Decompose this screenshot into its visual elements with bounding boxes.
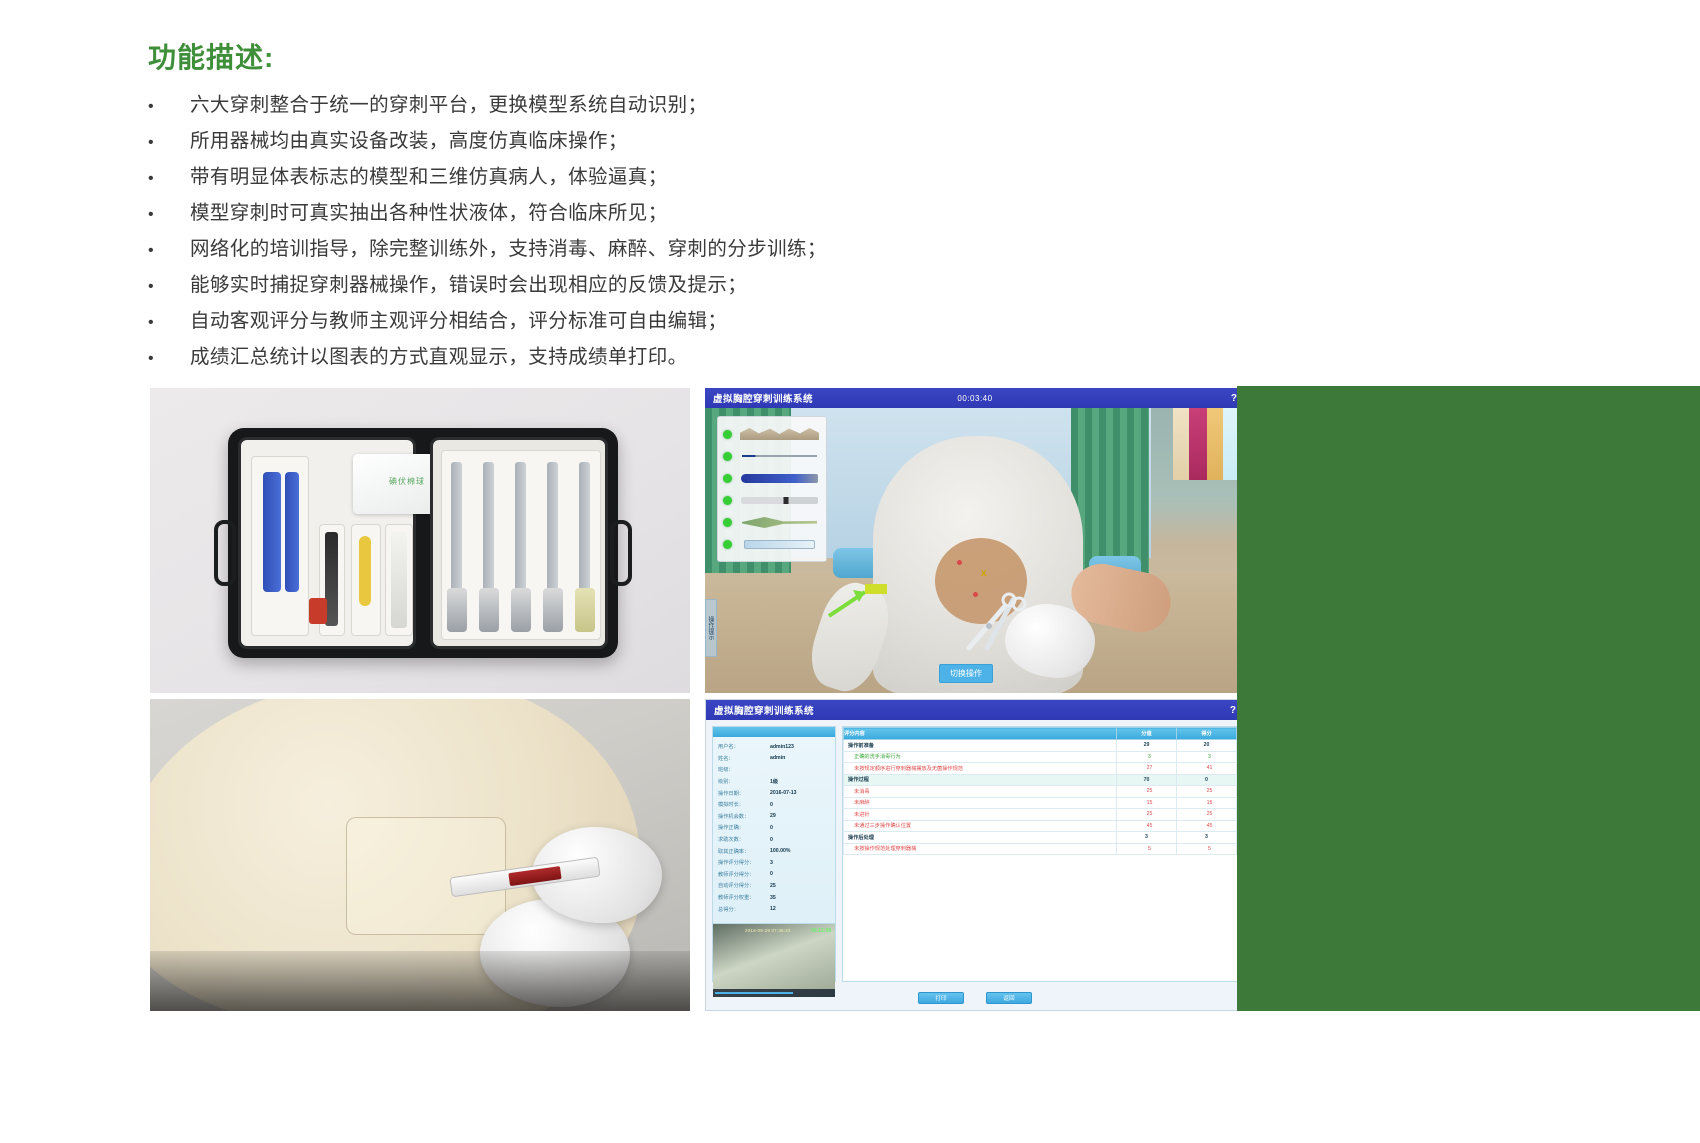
bullet-marker-icon: • xyxy=(148,234,190,268)
anatomy-cross-section-inset[interactable] xyxy=(1173,408,1245,480)
instrument-palette[interactable] xyxy=(717,416,827,562)
table-edge xyxy=(150,951,690,1011)
report-screenshot: 虚拟胸腔穿刺训练系统 ? 用户名：admin123姓名：admin班级：级别：1… xyxy=(705,699,1245,1011)
score-item-label: 未通过三步操作确认位置 xyxy=(844,820,1117,832)
needle-3 xyxy=(515,462,526,590)
anatomy-layer-skin xyxy=(1173,408,1189,480)
score-column-header: 得分 xyxy=(1177,728,1237,740)
info-key: 总得分： xyxy=(718,906,770,913)
info-value: 0 xyxy=(770,825,773,831)
score-item-label: 未按规定顺序进行穿刺器械摆放及无菌操作规范 xyxy=(844,763,1117,775)
score-table-row: 未通过三步操作确认位置4545 xyxy=(844,820,1237,832)
video-clock: 00:12:08 xyxy=(811,928,831,934)
feature-bullet-text: 网络化的培训指导，除完整训练外，支持消毒、麻醉、穿刺的分步训练； xyxy=(190,232,1148,266)
info-card-header xyxy=(713,727,835,737)
status-dot-ready xyxy=(723,430,732,439)
handle-3 xyxy=(511,588,531,632)
report-app-titlebar: 虚拟胸腔穿刺训练系统 ? xyxy=(706,700,1244,720)
info-value: 35 xyxy=(770,895,776,901)
score-item-value: 41 xyxy=(1177,763,1237,775)
info-row: 操作评分得分：3 xyxy=(718,857,830,869)
score-item-value: 45 xyxy=(1117,820,1177,832)
score-item-value: 25 xyxy=(1177,809,1237,821)
score-item-value: 5 xyxy=(1117,843,1177,855)
score-column-header: 评分内容 xyxy=(844,728,1117,740)
feature-bullet-item: •所用器械均由真实设备改装，高度仿真临床操作； xyxy=(148,124,1148,160)
bullet-marker-icon: • xyxy=(148,342,190,376)
status-dot-ready xyxy=(723,452,732,461)
info-key: 操作评分得分： xyxy=(718,859,770,866)
score-item-value: 25 xyxy=(1117,786,1177,798)
feature-bullet-item: •六大穿刺整合于统一的穿刺平台，更换模型系统自动识别； xyxy=(148,88,1148,124)
tool-forceps-blue-2 xyxy=(285,472,299,592)
info-key: 教师评分得分： xyxy=(718,871,770,878)
info-row: 教师评分得分：0 xyxy=(718,869,830,881)
feature-bullet-text: 带有明显体表标志的模型和三维仿真病人，体验逼真； xyxy=(190,160,1148,194)
info-row: 操作正确：0 xyxy=(718,822,830,834)
info-value: 100.00% xyxy=(770,848,790,854)
case-body: 碘伏棉球 xyxy=(228,428,618,658)
info-row: 取其正确率：100.00% xyxy=(718,845,830,857)
info-value: 25 xyxy=(770,883,776,889)
feature-bullet-item: •网络化的培训指导，除完整训练外，支持消毒、麻醉、穿刺的分步训练； xyxy=(148,232,1148,268)
anatomy-layer-muscle xyxy=(1189,408,1207,480)
case-lid-right xyxy=(430,437,608,649)
info-row: 求助次数：0 xyxy=(718,834,830,846)
info-value: 0 xyxy=(770,871,773,877)
yellow-cap-tool xyxy=(359,536,371,606)
bullet-marker-icon: • xyxy=(148,270,190,304)
info-key: 自动评分得分： xyxy=(718,882,770,889)
instrument-item-clamp[interactable] xyxy=(723,511,821,533)
status-dot-ready xyxy=(723,474,732,483)
score-item-value: 25 xyxy=(1177,786,1237,798)
score-item-label: 未消毒 xyxy=(844,786,1117,798)
info-value: 1级 xyxy=(770,778,778,785)
score-table-row: 未消毒2525 xyxy=(844,786,1237,798)
instrument-item-vial[interactable] xyxy=(723,533,821,555)
feature-bullet-item: •带有明显体表标志的模型和三维仿真病人，体验逼真； xyxy=(148,160,1148,196)
info-rows: 用户名：admin123姓名：admin班级：级别：1级操作日期：2016-07… xyxy=(713,737,835,919)
bullet-marker-icon: • xyxy=(148,90,190,124)
feature-bullet-item: •模型穿刺时可真实抽出各种性状液体，符合临床所见； xyxy=(148,196,1148,232)
score-item-value: 0 xyxy=(1177,774,1237,786)
bullet-marker-icon: • xyxy=(148,126,190,160)
score-item-value: 15 xyxy=(1117,797,1177,809)
score-item-value: 45 xyxy=(1177,820,1237,832)
score-item-label: 操作后处理 xyxy=(844,832,1117,844)
status-dot-ready xyxy=(723,540,732,549)
info-row: 操作日期：2016-07-13 xyxy=(718,787,830,799)
vr-scene[interactable]: x 操作提示 切换操作 xyxy=(705,408,1245,693)
info-key: 操作正确： xyxy=(718,824,770,831)
score-item-value: 3 xyxy=(1177,832,1237,844)
landmark-dot-1 xyxy=(957,560,962,565)
score-column-header: 分值 xyxy=(1117,728,1177,740)
info-key: 求助次数： xyxy=(718,836,770,843)
switch-operation-button[interactable]: 切换操作 xyxy=(939,664,993,683)
back-button[interactable]: 返回 xyxy=(986,992,1032,1004)
score-item-value: 25 xyxy=(1117,809,1177,821)
needle-5 xyxy=(579,462,590,590)
instrument-item-syringe[interactable] xyxy=(723,489,821,511)
report-action-bar: 打印返回 xyxy=(706,992,1244,1004)
needle-4 xyxy=(547,462,558,590)
info-key: 取其正确率： xyxy=(718,848,770,855)
feature-bullet-item: •成绩汇总统计以图表的方式直观显示，支持成绩单打印。 xyxy=(148,340,1148,376)
instrument-item-needle[interactable] xyxy=(723,445,821,467)
video-timestamp: 2016-09-29 07:45:33 xyxy=(745,928,791,933)
handle-2 xyxy=(479,588,499,632)
feature-bullet-text: 自动客观评分与教师主观评分相结合，评分标准可自由编辑； xyxy=(190,304,1148,338)
handle-5 xyxy=(575,588,595,632)
info-key: 用户名： xyxy=(718,743,770,750)
photo-instrument-case: 碘伏棉球 xyxy=(150,388,690,693)
feature-bullet-text: 模型穿刺时可真实抽出各种性状液体，符合临床所见； xyxy=(190,196,1148,230)
feature-bullet-item: •能够实时捕捉穿刺器械操作，错误时会出现相应的反馈及提示； xyxy=(148,268,1148,304)
score-item-value: 20 xyxy=(1177,740,1237,752)
help-icon[interactable]: ? xyxy=(1231,393,1237,404)
score-item-value: 27 xyxy=(1117,763,1177,775)
feature-description-section: 功能描述: •六大穿刺整合于统一的穿刺平台，更换模型系统自动识别；•所用器械均由… xyxy=(148,36,1148,376)
print-button[interactable]: 打印 xyxy=(918,992,964,1004)
tool-forceps-blue xyxy=(263,472,281,592)
score-table-row: 未按操作规范处理穿刺器械55 xyxy=(844,843,1237,855)
info-row: 班级： xyxy=(718,764,830,776)
feature-bullet-text: 六大穿刺整合于统一的穿刺平台，更换模型系统自动识别； xyxy=(190,88,1148,122)
red-clip xyxy=(309,598,327,624)
needle-1 xyxy=(451,462,462,590)
score-item-value: 70 xyxy=(1117,774,1177,786)
score-item-value: 29 xyxy=(1117,740,1177,752)
info-key: 操作机会数： xyxy=(718,813,770,820)
syringe-icon xyxy=(738,493,821,507)
info-key: 操作日期： xyxy=(718,790,770,797)
score-table-row: 正确的洗手消毒行为33 xyxy=(844,751,1237,763)
needle-icon xyxy=(738,449,821,463)
status-dot-ready xyxy=(723,496,732,505)
feature-bullet-text: 所用器械均由真实设备改装，高度仿真临床操作； xyxy=(190,124,1148,158)
info-value: admin xyxy=(770,755,785,761)
report-app-title: 虚拟胸腔穿刺训练系统 xyxy=(714,703,814,717)
score-item-label: 未按操作规范处理穿刺器械 xyxy=(844,843,1117,855)
feature-bullet-text: 成绩汇总统计以图表的方式直观显示，支持成绩单打印。 xyxy=(190,340,1148,374)
case-lid-left: 碘伏棉球 xyxy=(238,437,416,649)
help-icon[interactable]: ? xyxy=(1230,705,1236,716)
direction-arrow-icon xyxy=(825,578,895,624)
score-table-row: 操作过程700 xyxy=(844,774,1237,786)
score-table-row: 操作前准备2920 xyxy=(844,740,1237,752)
score-table-body: 操作前准备2920正确的洗手消毒行为33未按规定顺序进行穿刺器械摆放及无菌操作规… xyxy=(844,740,1237,855)
score-table: 评分内容分值得分 操作前准备2920正确的洗手消毒行为33未按规定顺序进行穿刺器… xyxy=(843,727,1237,855)
info-row: 总得分：12 xyxy=(718,903,830,915)
info-value: 12 xyxy=(770,906,776,912)
feature-bullet-text: 能够实时捕捉穿刺器械操作，错误时会出现相应的反馈及提示； xyxy=(190,268,1148,302)
case-handle-left xyxy=(214,520,236,586)
info-row: 模拟时长：0 xyxy=(718,799,830,811)
info-value: 0 xyxy=(770,802,773,808)
student-info-card: 用户名：admin123姓名：admin班级：级别：1级操作日期：2016-07… xyxy=(712,726,836,982)
bullet-marker-icon: • xyxy=(148,162,190,196)
info-value: 3 xyxy=(770,860,773,866)
score-item-label: 操作前准备 xyxy=(844,740,1117,752)
vr-app-titlebar: 虚拟胸腔穿刺训练系统 00:03:40 ? xyxy=(705,388,1245,408)
score-table-header-row: 评分内容分值得分 xyxy=(844,728,1237,740)
info-key: 班级： xyxy=(718,766,770,773)
info-key: 级别： xyxy=(718,778,770,785)
info-row: 用户名：admin123 xyxy=(718,741,830,753)
feature-bullet-list: •六大穿刺整合于统一的穿刺平台，更换模型系统自动识别；•所用器械均由真实设备改装… xyxy=(148,88,1148,376)
forceps-icon xyxy=(738,471,821,485)
anatomy-layer-fat xyxy=(1207,408,1223,480)
handle-4 xyxy=(543,588,563,632)
info-row: 教师评分权重：35 xyxy=(718,892,830,904)
info-key: 姓名： xyxy=(718,755,770,762)
score-item-value: 3 xyxy=(1117,832,1177,844)
side-tab-hint[interactable]: 操作提示 xyxy=(705,599,717,657)
score-table-row: 未进针2525 xyxy=(844,809,1237,821)
score-item-value: 3 xyxy=(1177,751,1237,763)
clamp-icon xyxy=(738,515,821,529)
case-handle-right xyxy=(610,520,632,586)
report-body: 用户名：admin123姓名：admin班级：级别：1级操作日期：2016-07… xyxy=(706,720,1244,988)
score-table-row: 未麻醉1515 xyxy=(844,797,1237,809)
info-row: 姓名：admin xyxy=(718,753,830,765)
score-item-label: 正确的洗手消毒行为 xyxy=(844,751,1117,763)
info-value: 2016-07-13 xyxy=(770,790,797,796)
instrument-item-retractor[interactable] xyxy=(723,423,821,445)
instrument-item-forceps[interactable] xyxy=(723,467,821,489)
info-value: 29 xyxy=(770,813,776,819)
score-table-row: 未按规定顺序进行穿刺器械摆放及无菌操作规范2741 xyxy=(844,763,1237,775)
score-item-value: 3 xyxy=(1117,751,1177,763)
score-item-label: 未麻醉 xyxy=(844,797,1117,809)
score-item-label: 未进针 xyxy=(844,809,1117,821)
handle-1 xyxy=(447,588,467,632)
playback-video-thumbnail[interactable]: 2016-09-29 07:45:33 00:12:08 xyxy=(713,923,835,997)
vr-simulation-screenshot: 虚拟胸腔穿刺训练系统 00:03:40 ? x xyxy=(705,388,1245,693)
score-item-value: 15 xyxy=(1177,797,1237,809)
target-x-mark: x xyxy=(981,568,987,579)
needle-2 xyxy=(483,462,494,590)
info-row: 操作机会数：29 xyxy=(718,811,830,823)
info-value: admin123 xyxy=(770,744,794,750)
vial-icon xyxy=(738,537,821,551)
score-item-label: 操作过程 xyxy=(844,774,1117,786)
info-row: 级别：1级 xyxy=(718,776,830,788)
syringe xyxy=(391,532,407,628)
feature-bullet-item: •自动客观评分与教师主观评分相结合，评分标准可自由编辑； xyxy=(148,304,1148,340)
bullet-marker-icon: • xyxy=(148,306,190,340)
page-title: 功能描述: xyxy=(148,36,1148,76)
info-key: 模拟时长： xyxy=(718,801,770,808)
score-table-row: 操作后处理33 xyxy=(844,832,1237,844)
vr-session-timer: 00:03:40 xyxy=(705,394,1245,403)
score-table-card: 评分内容分值得分 操作前准备2920正确的洗手消毒行为33未按规定顺序进行穿刺器… xyxy=(842,726,1238,982)
photo-mannequin-puncture xyxy=(150,699,690,1011)
decorative-green-block xyxy=(1237,386,1700,1011)
info-key: 教师评分权重： xyxy=(718,894,770,901)
status-dot-ready xyxy=(723,518,732,527)
info-value: 0 xyxy=(770,837,773,843)
score-item-value: 5 xyxy=(1177,843,1237,855)
bullet-marker-icon: • xyxy=(148,198,190,232)
retractor-icon xyxy=(738,427,821,441)
info-row: 自动评分得分：25 xyxy=(718,880,830,892)
